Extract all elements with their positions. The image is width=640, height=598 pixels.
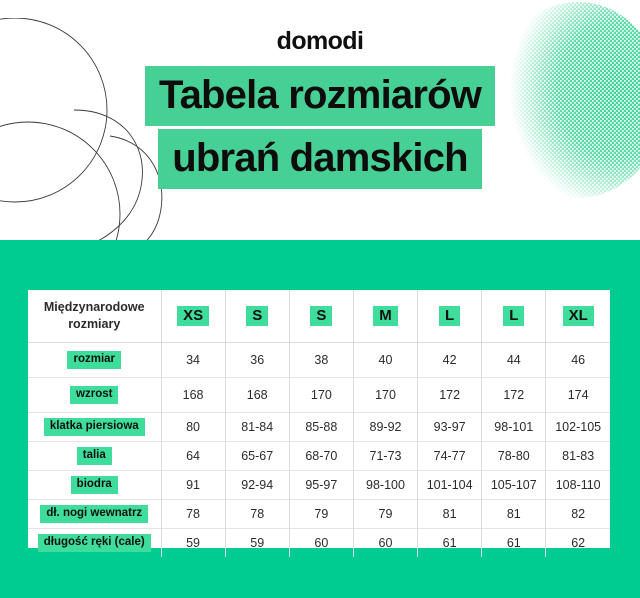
table-cell: 78	[225, 500, 289, 529]
title-line-1-row: Tabela rozmiarów	[0, 66, 640, 126]
table-row: rozmiar 34 36 38 40 42 44 46	[28, 343, 610, 378]
table-cell: 78	[161, 500, 225, 529]
table-cell: 168	[225, 378, 289, 413]
table-cell: 92-94	[225, 471, 289, 500]
row-label-chip: biodra	[71, 476, 118, 494]
table-row: dł. nogi wewnatrz 78 78 79 79 81 81 82	[28, 500, 610, 529]
row-label-chip: długość ręki (cale)	[38, 534, 151, 552]
table-row: wzrost 168 168 170 170 172 172 174	[28, 378, 610, 413]
row-label-chip: dł. nogi wewnatrz	[40, 505, 148, 523]
table-cell: 108-110	[546, 471, 610, 500]
header-label-international-sizes: Międzynarodowe rozmiary	[28, 290, 161, 343]
table-cell: 60	[289, 529, 353, 558]
row-label-chip: talia	[77, 447, 112, 465]
table-cell: 98-101	[482, 413, 546, 442]
size-column-header: L	[482, 290, 546, 343]
table-cell: 81-84	[225, 413, 289, 442]
table-cell: 74-77	[418, 442, 482, 471]
table-cell: 105-107	[482, 471, 546, 500]
table-cell: 59	[225, 529, 289, 558]
table-cell: 34	[161, 343, 225, 378]
table-cell: 95-97	[289, 471, 353, 500]
size-chip: S	[246, 306, 268, 326]
table-cell: 46	[546, 343, 610, 378]
size-table-card: Międzynarodowe rozmiary XS S S M L L XL …	[28, 290, 610, 548]
row-label-chip: wzrost	[70, 386, 118, 404]
table-cell: 81	[418, 500, 482, 529]
row-label-chip: klatka piersiowa	[44, 418, 145, 436]
table-row: talia 64 65-67 68-70 71-73 74-77 78-80 8…	[28, 442, 610, 471]
hero-section: domodi Tabela rozmiarów ubrań damskich	[0, 0, 640, 240]
size-chip: L	[503, 306, 524, 326]
size-column-header: S	[289, 290, 353, 343]
size-table: Międzynarodowe rozmiary XS S S M L L XL …	[28, 290, 610, 557]
size-column-header: M	[353, 290, 417, 343]
table-row: długość ręki (cale) 59 59 60 60 61 61 62	[28, 529, 610, 558]
size-chip: M	[373, 306, 398, 326]
title-line-1: Tabela rozmiarów	[145, 66, 495, 126]
table-cell: 98-100	[353, 471, 417, 500]
table-cell: 80	[161, 413, 225, 442]
size-chip: L	[439, 306, 460, 326]
table-cell: 38	[289, 343, 353, 378]
table-cell: 168	[161, 378, 225, 413]
row-label-cell: długość ręki (cale)	[28, 529, 161, 558]
table-cell: 79	[353, 500, 417, 529]
table-cell: 172	[418, 378, 482, 413]
table-cell: 40	[353, 343, 417, 378]
title-line-2: ubrań damskich	[158, 129, 482, 189]
table-cell: 170	[353, 378, 417, 413]
size-column-header: S	[225, 290, 289, 343]
table-cell: 174	[546, 378, 610, 413]
row-label-cell: talia	[28, 442, 161, 471]
table-cell: 64	[161, 442, 225, 471]
size-chip: S	[310, 306, 332, 326]
table-row: klatka piersiowa 80 81-84 85-88 89-92 93…	[28, 413, 610, 442]
size-chip: XS	[177, 306, 209, 326]
size-column-header: XS	[161, 290, 225, 343]
size-column-header: XL	[546, 290, 610, 343]
table-cell: 82	[546, 500, 610, 529]
table-cell: 170	[289, 378, 353, 413]
row-label-chip: rozmiar	[67, 351, 121, 369]
table-cell: 59	[161, 529, 225, 558]
table-cell: 44	[482, 343, 546, 378]
size-table-head: Międzynarodowe rozmiary XS S S M L L XL	[28, 290, 610, 343]
row-label-cell: wzrost	[28, 378, 161, 413]
table-cell: 65-67	[225, 442, 289, 471]
table-cell: 42	[418, 343, 482, 378]
row-label-cell: rozmiar	[28, 343, 161, 378]
row-label-cell: biodra	[28, 471, 161, 500]
table-header-row: Międzynarodowe rozmiary XS S S M L L XL	[28, 290, 610, 343]
table-cell: 36	[225, 343, 289, 378]
table-cell: 61	[418, 529, 482, 558]
page-title: Tabela rozmiarów ubrań damskich	[0, 66, 640, 189]
table-cell: 85-88	[289, 413, 353, 442]
table-cell: 60	[353, 529, 417, 558]
table-cell: 93-97	[418, 413, 482, 442]
size-table-body: rozmiar 34 36 38 40 42 44 46 wzrost 168 …	[28, 343, 610, 558]
size-column-header: L	[418, 290, 482, 343]
table-cell: 101-104	[418, 471, 482, 500]
size-chip: XL	[563, 306, 594, 326]
table-cell: 71-73	[353, 442, 417, 471]
brand-logo: domodi	[0, 27, 640, 56]
table-cell: 78-80	[482, 442, 546, 471]
table-cell: 68-70	[289, 442, 353, 471]
header-label-line-2: rozmiary	[28, 316, 161, 333]
table-cell: 172	[482, 378, 546, 413]
table-cell: 89-92	[353, 413, 417, 442]
title-line-2-row: ubrań damskich	[0, 129, 640, 189]
table-row: biodra 91 92-94 95-97 98-100 101-104 105…	[28, 471, 610, 500]
table-cell: 81-83	[546, 442, 610, 471]
row-label-cell: klatka piersiowa	[28, 413, 161, 442]
header-label-line-1: Międzynarodowe	[28, 299, 161, 316]
table-cell: 81	[482, 500, 546, 529]
table-cell: 62	[546, 529, 610, 558]
row-label-cell: dł. nogi wewnatrz	[28, 500, 161, 529]
table-cell: 61	[482, 529, 546, 558]
table-cell: 91	[161, 471, 225, 500]
table-cell: 102-105	[546, 413, 610, 442]
table-cell: 79	[289, 500, 353, 529]
